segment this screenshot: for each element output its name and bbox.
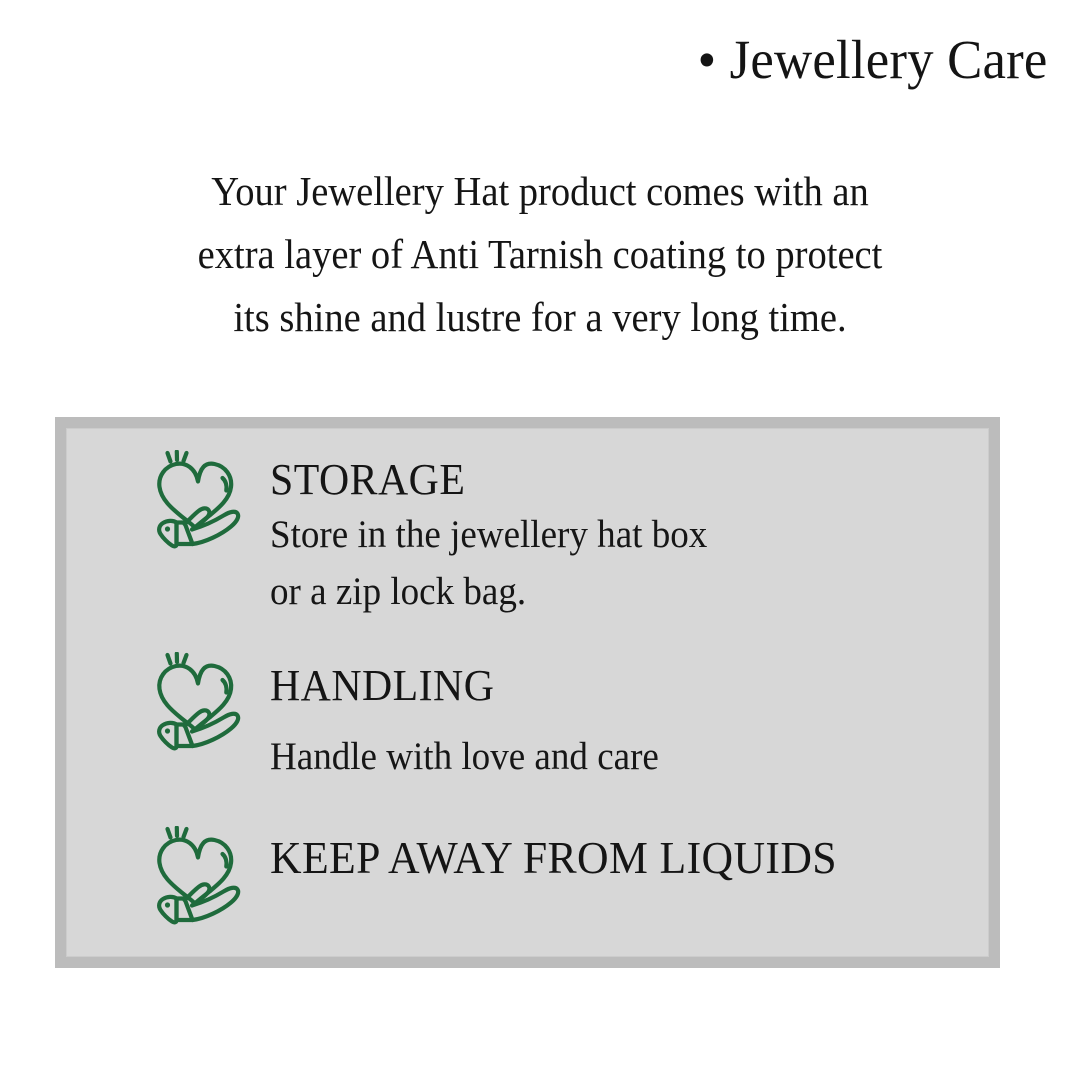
care-item-description: Store in the jewellery hat box or a zip … <box>270 506 707 620</box>
intro-line-2: extra layer of Anti Tarnish coating to p… <box>103 223 977 286</box>
title-label: Jewellery Care <box>730 29 1048 90</box>
page-title: • Jewellery Care <box>0 28 1048 92</box>
care-item-title: KEEP AWAY FROM LIQUIDS <box>270 830 837 886</box>
care-item-storage: STORAGE Store in the jewellery hat box o… <box>148 450 730 620</box>
care-item-title: HANDLING <box>270 656 659 716</box>
hand-holding-heart-icon <box>148 652 252 756</box>
title-bullet: • <box>698 29 717 90</box>
intro-line-3: its shine and lustre for a very long tim… <box>103 286 977 349</box>
care-item-desc-line-1: Handle with love and care <box>270 728 659 785</box>
care-item-text: KEEP AWAY FROM LIQUIDS <box>270 826 867 886</box>
care-instructions-panel: STORAGE Store in the jewellery hat box o… <box>55 417 1000 968</box>
care-item-desc-line-2: or a zip lock bag. <box>270 563 707 620</box>
hand-holding-heart-icon <box>148 450 252 554</box>
jewellery-care-card: • Jewellery Care Your Jewellery Hat prod… <box>0 0 1080 1080</box>
hand-holding-heart-icon <box>148 826 252 930</box>
care-item-desc-line-1: Store in the jewellery hat box <box>270 506 707 563</box>
intro-line-1: Your Jewellery Hat product comes with an <box>103 160 977 223</box>
care-list: STORAGE Store in the jewellery hat box o… <box>66 428 989 957</box>
care-item-text: STORAGE Store in the jewellery hat box o… <box>270 450 730 620</box>
care-item-description: Handle with love and care <box>270 728 659 785</box>
care-item-keep-away-from-liquids: KEEP AWAY FROM LIQUIDS <box>148 826 867 930</box>
care-item-title: STORAGE <box>270 454 707 506</box>
care-item-handling: HANDLING Handle with love and care <box>148 652 679 785</box>
care-item-text: HANDLING Handle with love and care <box>270 652 679 785</box>
intro-paragraph: Your Jewellery Hat product comes with an… <box>103 160 977 349</box>
page-title-text: • Jewellery Care <box>698 28 1048 92</box>
